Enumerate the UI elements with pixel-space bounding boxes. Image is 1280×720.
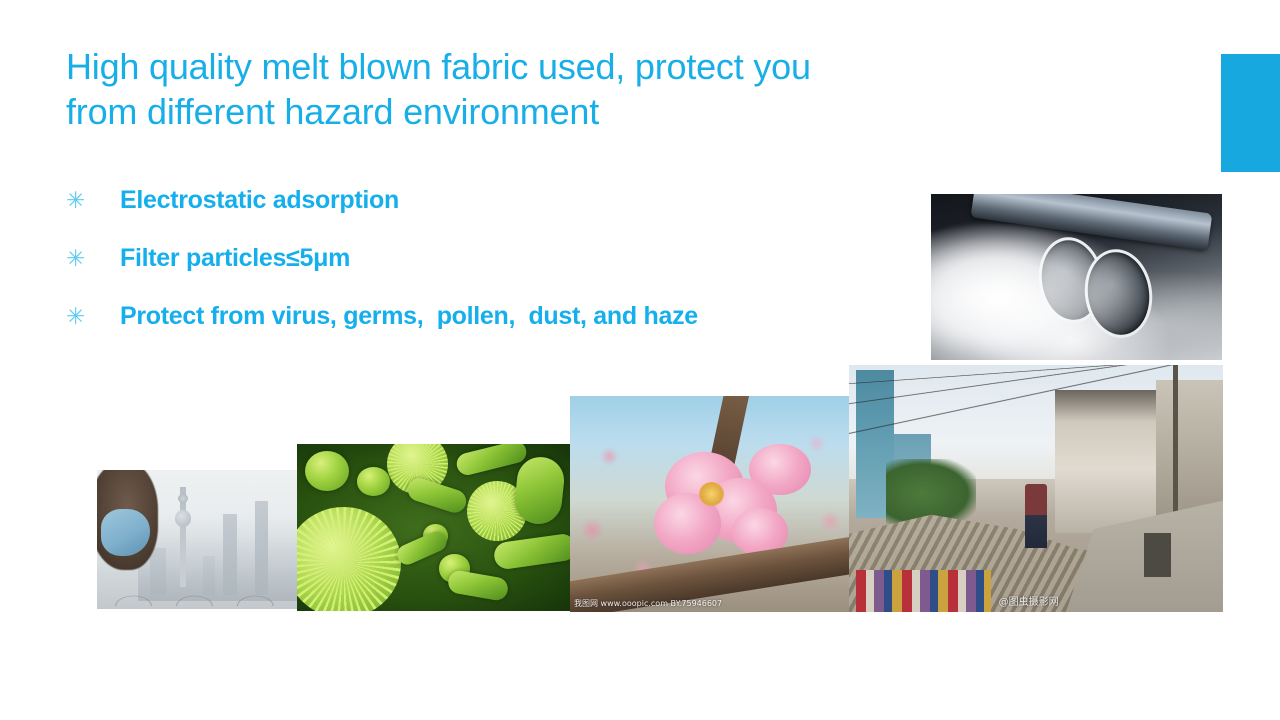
bullet-list: ✳ Electrostatic adsorption ✳ Filter part…: [66, 186, 896, 360]
haze-building: [223, 514, 237, 595]
demolition-hanging-laundry: [856, 570, 991, 612]
demolition-window: [1144, 533, 1170, 577]
germ-rod: [446, 569, 509, 602]
list-item: ✳ Filter particles≤5μm: [66, 244, 896, 302]
haze-building: [150, 548, 166, 595]
list-item: ✳ Electrostatic adsorption: [66, 186, 896, 244]
blossom-stamen: [699, 482, 724, 506]
photo-haze-city: [97, 470, 300, 609]
photo-haze-content: [97, 470, 300, 609]
haze-bridge: [97, 590, 300, 607]
bullet-text: Filter particles≤5μm: [120, 244, 350, 273]
germ-blob: [305, 451, 349, 491]
list-item: ✳ Protect from virus, germs, pollen, dus…: [66, 302, 896, 360]
photo-cherry-blossom: 我图网 www.ooopic.com BY.75946607: [570, 396, 850, 612]
asterisk-bullet-icon: ✳: [66, 306, 120, 329]
page-title: High quality melt blown fabric used, pro…: [66, 44, 1006, 134]
haze-building: [255, 501, 267, 596]
photo-car-exhaust: [931, 194, 1222, 360]
photo-demolition-rubble: @图虫摄影网: [849, 365, 1223, 612]
demolition-power-lines: [849, 365, 1223, 439]
asterisk-bullet-icon: ✳: [66, 248, 120, 271]
exhaust-smoke: [931, 224, 1149, 360]
accent-rectangle: [1221, 54, 1280, 172]
asterisk-bullet-icon: ✳: [66, 190, 120, 213]
germ-rod: [513, 455, 566, 526]
haze-tv-tower-sphere: [175, 510, 191, 527]
demolition-watermark: @图虫摄影网: [999, 593, 1059, 608]
photo-demolition-content: [849, 365, 1223, 612]
photo-germs-content: [297, 444, 571, 611]
demolition-person: [1025, 484, 1047, 548]
photo-germs-bacteria: [297, 444, 571, 611]
bullet-text: Protect from virus, germs, pollen, dust,…: [120, 302, 698, 331]
slide-canvas: High quality melt blown fabric used, pro…: [0, 0, 1280, 720]
photo-blossom-content: [570, 396, 850, 612]
blossom-watermark: 我图网 www.ooopic.com BY.75946607: [574, 598, 722, 609]
photo-exhaust-content: [931, 194, 1222, 360]
germ-spiky: [297, 507, 401, 611]
germ-blob: [357, 467, 390, 495]
haze-tv-tower-sphere-small: [178, 494, 188, 504]
bullet-text: Electrostatic adsorption: [120, 186, 399, 215]
